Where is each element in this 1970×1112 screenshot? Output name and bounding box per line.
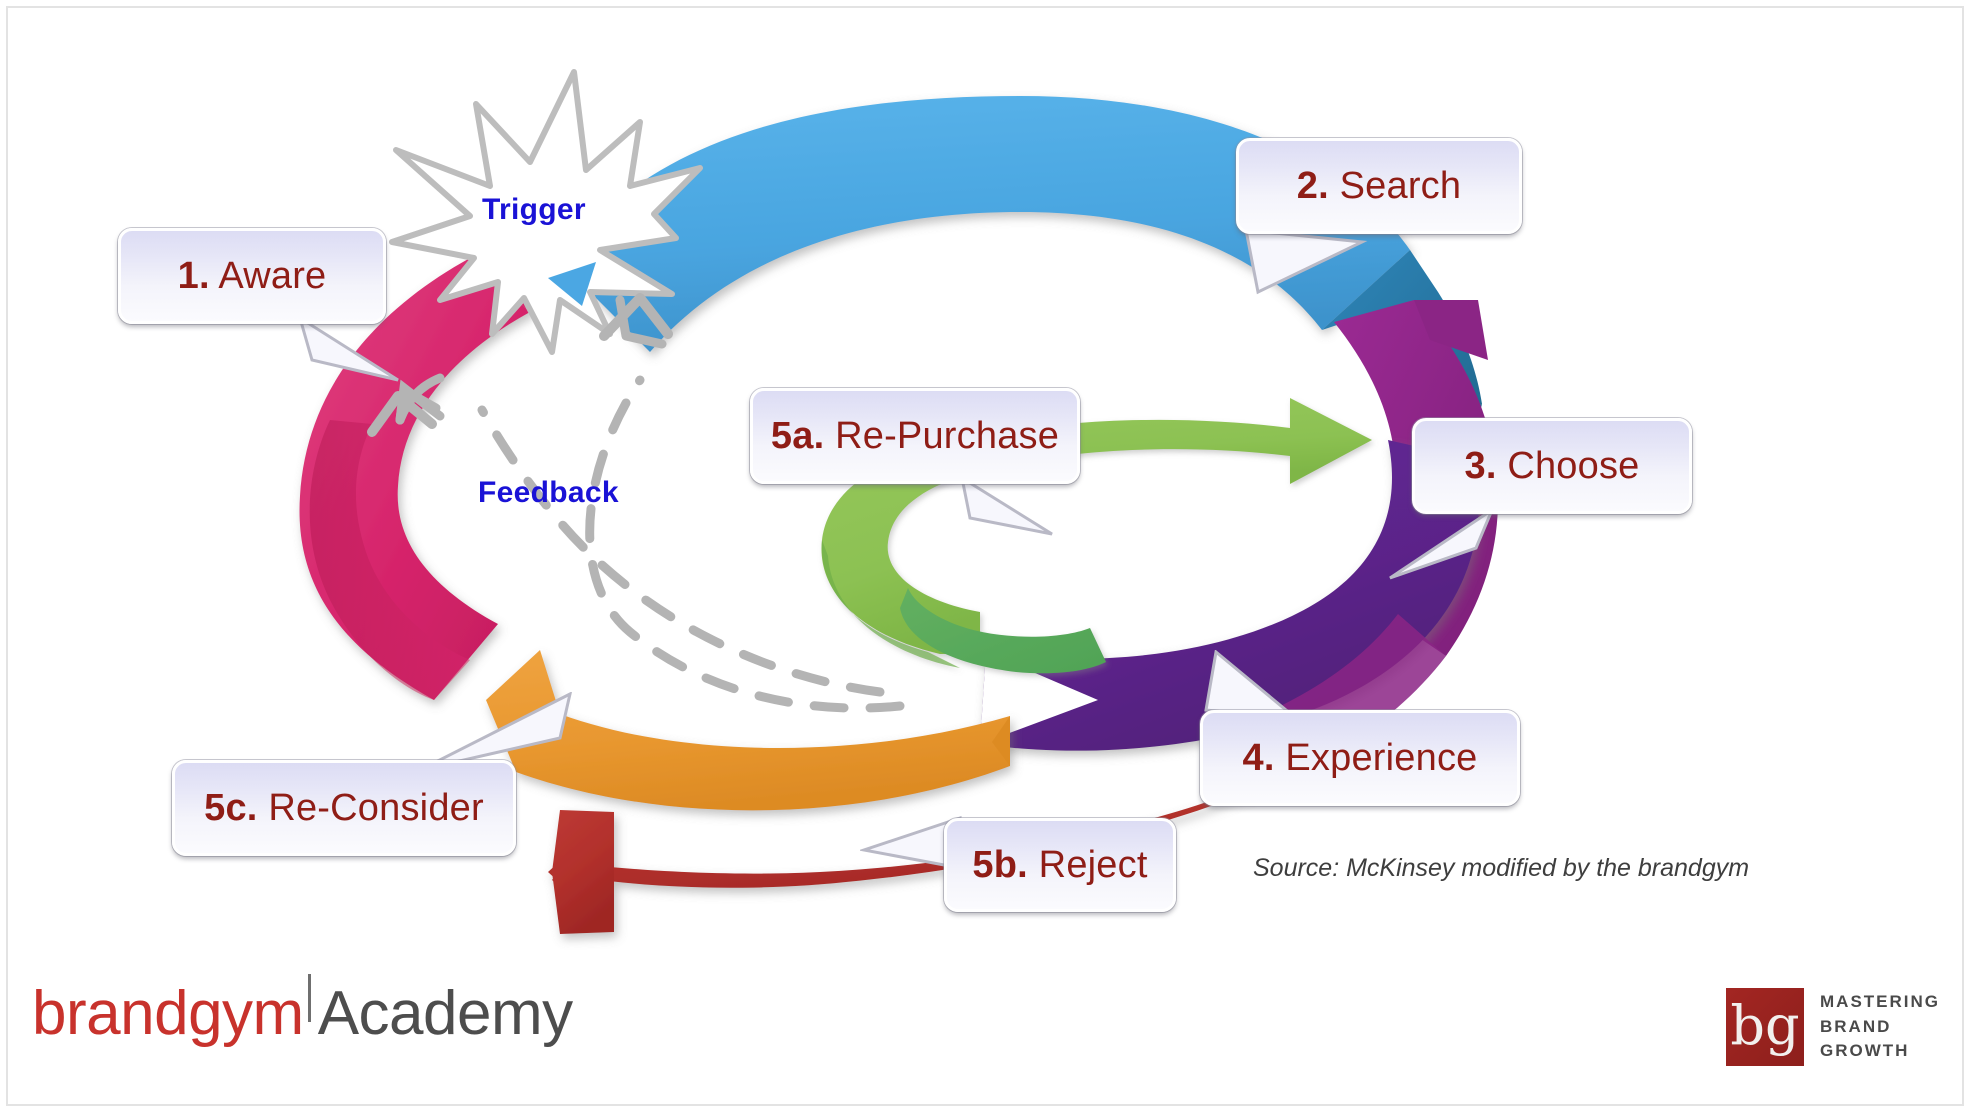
slide-canvas: 1. Aware 2. Search 3. Choose 4. Experien… — [0, 0, 1970, 1112]
callout-aware-tail — [290, 316, 410, 386]
brand-primary-text: brandgym — [32, 978, 304, 1049]
callout-aware-label: 1. Aware — [178, 255, 327, 298]
callout-repurchase[interactable]: 5a. Re-Purchase — [750, 388, 1080, 484]
callout-choose[interactable]: 3. Choose — [1412, 418, 1692, 514]
bg-logo-mark: bg — [1726, 988, 1804, 1066]
bg-tagline-line1: MASTERING — [1820, 990, 1940, 1015]
callout-aware[interactable]: 1. Aware — [118, 228, 386, 324]
callout-repurchase-label: 5a. Re-Purchase — [771, 415, 1059, 458]
feedback-label: Feedback — [478, 476, 619, 510]
callout-reconsider-label: 5c. Re-Consider — [204, 787, 484, 830]
callout-choose-tail — [1380, 506, 1500, 584]
callout-reject-label: 5b. Reject — [972, 844, 1147, 887]
brandgym-academy-logo: brandgym Academy — [32, 978, 573, 1049]
bg-logo-tagline: MASTERING BRAND GROWTH — [1820, 990, 1940, 1064]
callout-repurchase-tail — [956, 476, 1066, 542]
bg-corporate-logo: bg MASTERING BRAND GROWTH — [1726, 988, 1940, 1066]
source-note: Source: McKinsey modified by the brandgy… — [1253, 854, 1749, 883]
callout-choose-label: 3. Choose — [1464, 445, 1639, 488]
callout-experience[interactable]: 4. Experience — [1200, 710, 1520, 806]
slide-footer: brandgym Academy bg MASTERING BRAND GROW… — [0, 960, 1970, 1112]
callout-search-label: 2. Search — [1297, 165, 1461, 208]
callout-experience-label: 4. Experience — [1243, 737, 1478, 780]
callout-search-tail — [1238, 228, 1368, 298]
callout-search[interactable]: 2. Search — [1236, 138, 1522, 234]
bg-logo-mark-text: bg — [1730, 999, 1799, 1053]
bg-tagline-line3: GROWTH — [1820, 1039, 1940, 1064]
callout-reconsider[interactable]: 5c. Re-Consider — [172, 760, 516, 856]
callout-reject[interactable]: 5b. Reject — [944, 818, 1176, 912]
brand-divider — [308, 974, 311, 1022]
brand-secondary-text: Academy — [318, 978, 573, 1049]
bg-tagline-line2: BRAND — [1820, 1015, 1940, 1040]
trigger-label: Trigger — [482, 193, 586, 227]
consumer-decision-journey-diagram: 1. Aware 2. Search 3. Choose 4. Experien… — [0, 0, 1970, 960]
